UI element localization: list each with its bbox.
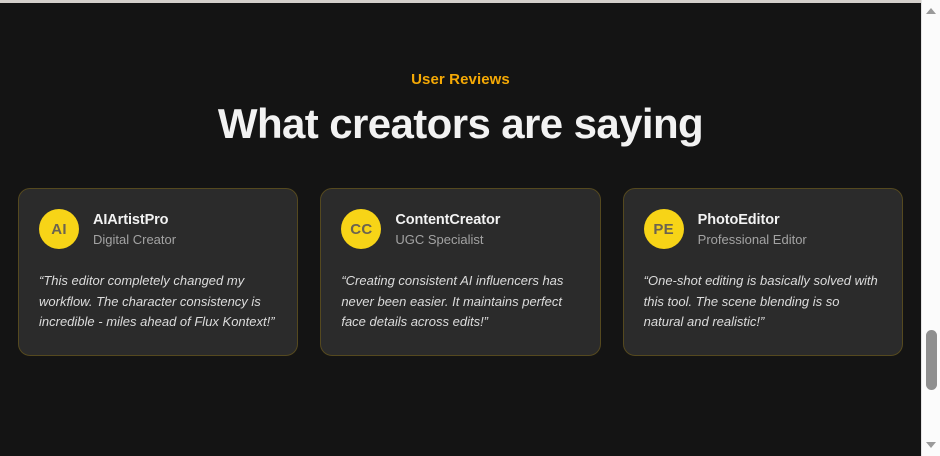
avatar: PE bbox=[644, 209, 684, 249]
review-author: AI AIArtistPro Digital Creator bbox=[39, 209, 277, 249]
review-author: CC ContentCreator UGC Specialist bbox=[341, 209, 579, 249]
section-eyebrow: User Reviews bbox=[0, 71, 921, 88]
review-card: PE PhotoEditor Professional Editor “One-… bbox=[623, 188, 903, 356]
author-role: UGC Specialist bbox=[395, 232, 500, 247]
review-card: CC ContentCreator UGC Specialist “Creati… bbox=[320, 188, 600, 356]
author-name: PhotoEditor bbox=[698, 212, 807, 228]
author-name: AIArtistPro bbox=[93, 212, 176, 228]
author-meta: ContentCreator UGC Specialist bbox=[395, 212, 500, 247]
page-title: What creators are saying bbox=[0, 102, 921, 146]
scroll-down-button[interactable] bbox=[922, 436, 940, 454]
page-content: User Reviews What creators are saying AI… bbox=[0, 3, 921, 456]
author-meta: PhotoEditor Professional Editor bbox=[698, 212, 807, 247]
scroll-up-button[interactable] bbox=[922, 2, 940, 20]
author-role: Digital Creator bbox=[93, 232, 176, 247]
review-quote: “This editor completely changed my workf… bbox=[39, 271, 277, 333]
review-quote: “One-shot editing is basically solved wi… bbox=[644, 271, 882, 333]
avatar: AI bbox=[39, 209, 79, 249]
review-author: PE PhotoEditor Professional Editor bbox=[644, 209, 882, 249]
author-role: Professional Editor bbox=[698, 232, 807, 247]
author-name: ContentCreator bbox=[395, 212, 500, 228]
author-meta: AIArtistPro Digital Creator bbox=[93, 212, 176, 247]
reviews-list: AI AIArtistPro Digital Creator “This edi… bbox=[0, 188, 921, 356]
review-quote: “Creating consistent AI influencers has … bbox=[341, 271, 579, 333]
avatar: CC bbox=[341, 209, 381, 249]
chevron-down-icon bbox=[926, 442, 936, 448]
scrollbar-thumb[interactable] bbox=[926, 330, 937, 390]
review-card: AI AIArtistPro Digital Creator “This edi… bbox=[18, 188, 298, 356]
chevron-up-icon bbox=[926, 8, 936, 14]
vertical-scrollbar[interactable] bbox=[921, 0, 940, 456]
